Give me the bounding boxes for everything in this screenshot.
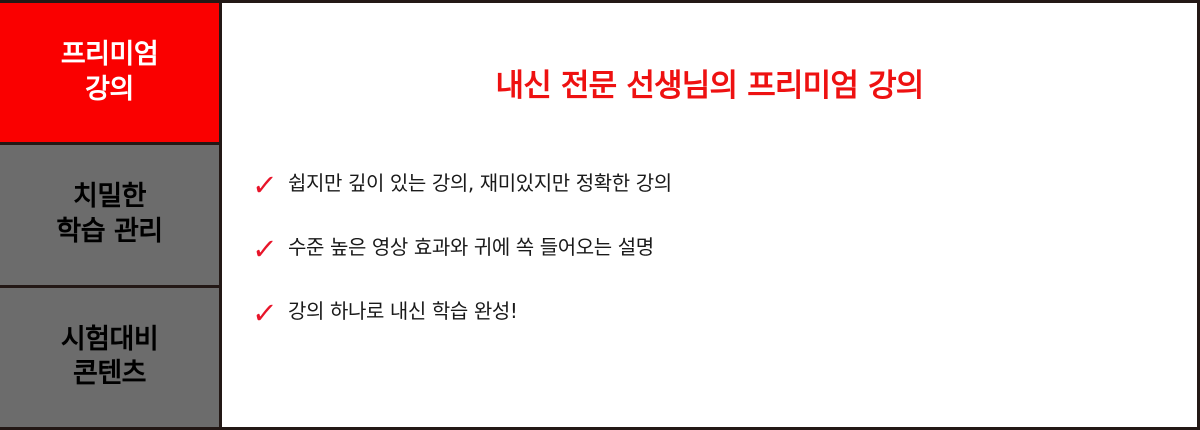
- list-item: ✓ 강의 하나로 내신 학습 완성!: [254, 299, 1177, 363]
- sidebar-item-premium-lecture-line2: 강의: [85, 73, 134, 108]
- content-area: 내신 전문 선생님의 프리미엄 강의 ✓ 쉽지만 깊이 있는 강의, 재미있지만…: [222, 3, 1197, 427]
- check-icon: ✓: [251, 299, 288, 328]
- sidebar-item-premium-lecture-line1: 프리미엄: [61, 38, 158, 73]
- list-item: ✓ 수준 높은 영상 효과와 귀에 쏙 들어오는 설명: [254, 235, 1177, 299]
- sidebar-item-exam-prep-contents-line1: 시험대비: [61, 323, 158, 358]
- feature-text: 쉽지만 깊이 있는 강의, 재미있지만 정확한 강의: [288, 171, 1177, 195]
- sidebar-item-study-management[interactable]: 치밀한 학습 관리: [0, 142, 219, 284]
- sidebar-item-exam-prep-contents-line2: 콘텐츠: [73, 357, 146, 392]
- premium-lecture-promo-panel: 프리미엄 강의 치밀한 학습 관리 시험대비 콘텐츠 내신 전문 선생님의 프리…: [0, 0, 1200, 430]
- list-item: ✓ 쉽지만 깊이 있는 강의, 재미있지만 정확한 강의: [254, 171, 1177, 235]
- check-icon: ✓: [251, 171, 288, 200]
- sidebar-item-exam-prep-contents[interactable]: 시험대비 콘텐츠: [0, 285, 219, 427]
- sidebar-item-study-management-line2: 학습 관리: [56, 215, 162, 250]
- category-sidebar: 프리미엄 강의 치밀한 학습 관리 시험대비 콘텐츠: [0, 3, 222, 427]
- feature-text: 강의 하나로 내신 학습 완성!: [288, 299, 1177, 323]
- feature-list: ✓ 쉽지만 깊이 있는 강의, 재미있지만 정확한 강의 ✓ 수준 높은 영상 …: [254, 171, 1177, 363]
- sidebar-item-premium-lecture[interactable]: 프리미엄 강의: [0, 3, 219, 142]
- sidebar-item-study-management-line1: 치밀한: [73, 180, 146, 215]
- feature-text: 수준 높은 영상 효과와 귀에 쏙 들어오는 설명: [288, 235, 1177, 259]
- page-title: 내신 전문 선생님의 프리미엄 강의: [222, 60, 1197, 105]
- check-icon: ✓: [251, 235, 288, 264]
